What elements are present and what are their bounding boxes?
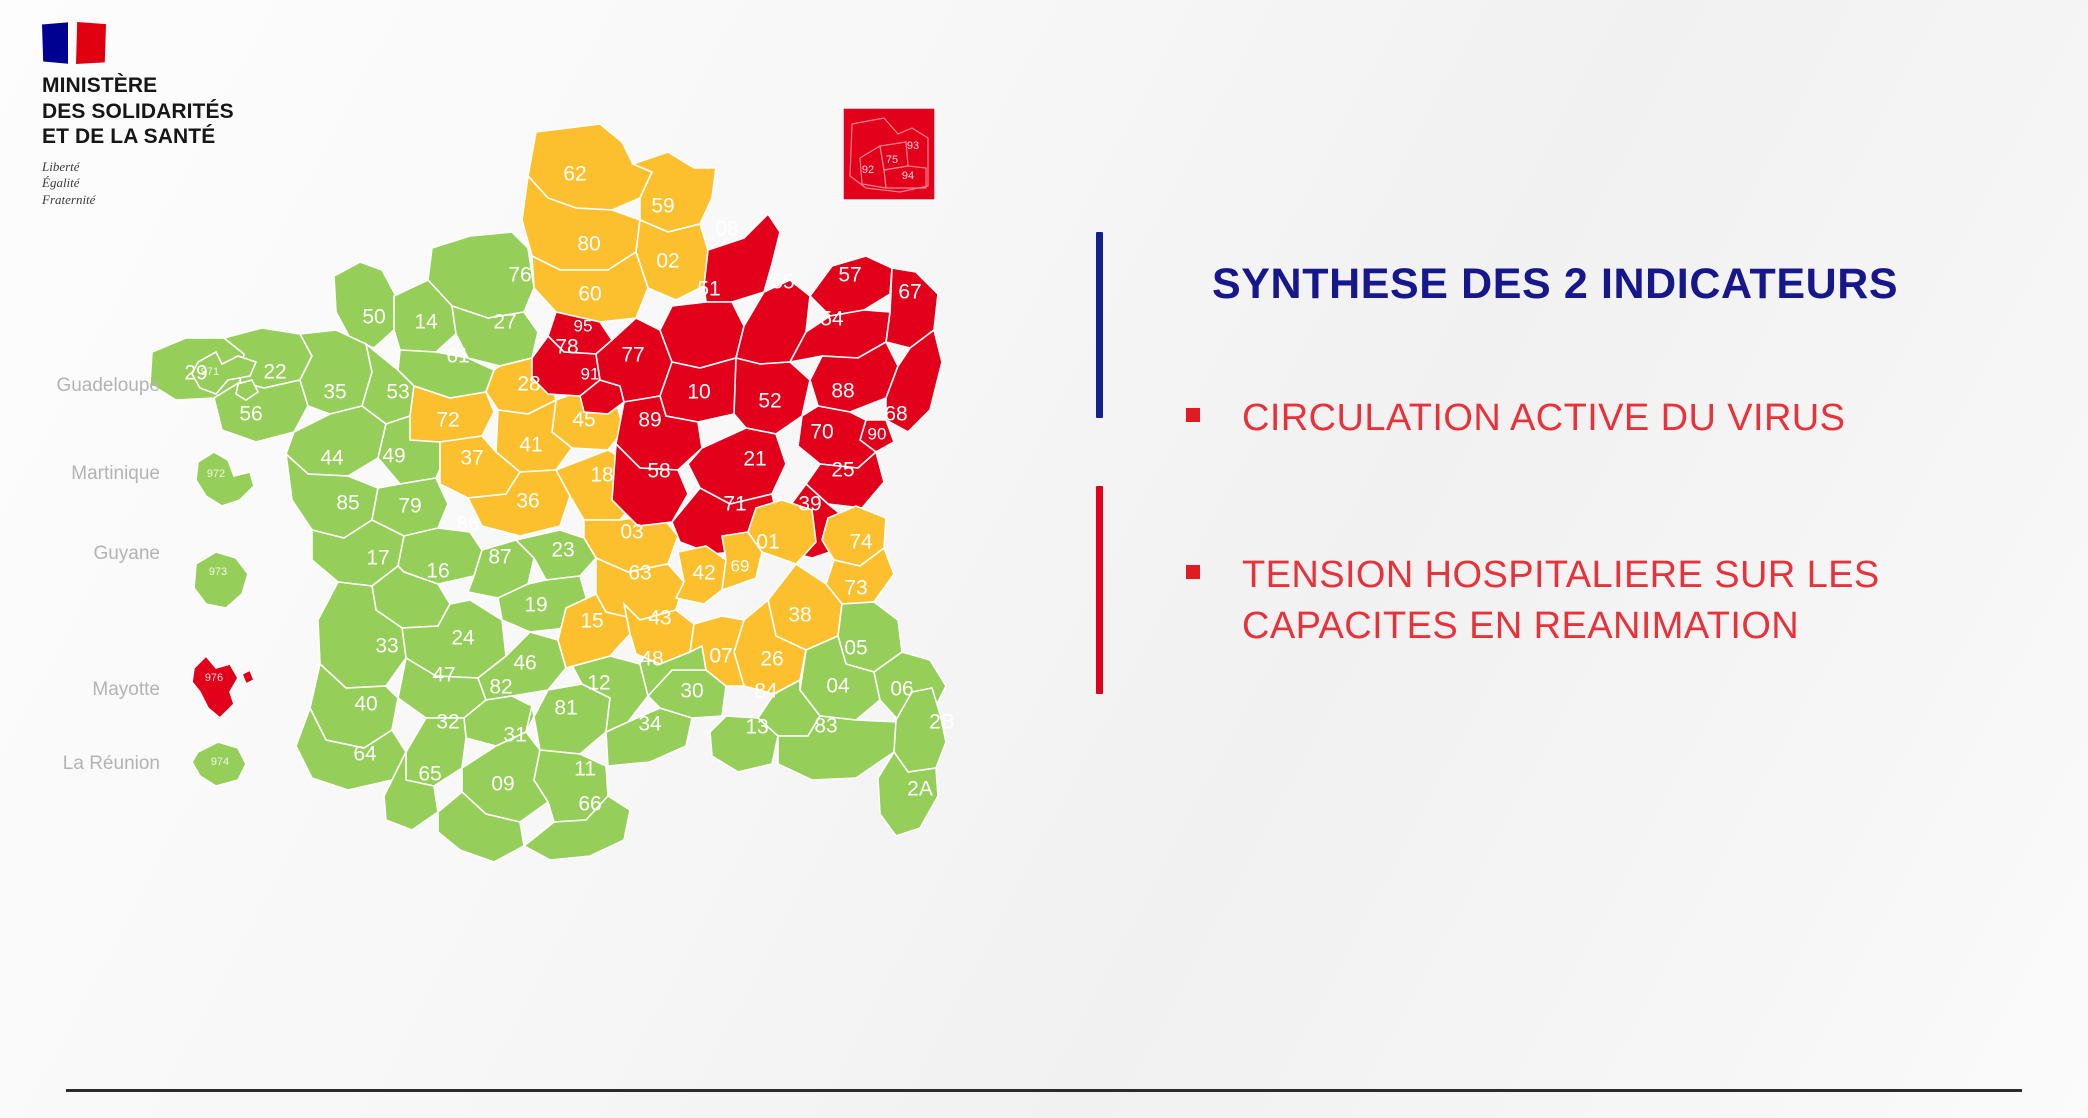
france-covid-map: 93 75 92 94 971 Guadeloupe 972 Martiniqu… (0, 80, 1060, 1020)
indicator-item-1: CIRCULATION ACTIVE DU VIRUS (1186, 393, 1845, 444)
dom-name-guyane: Guyane (93, 543, 160, 564)
dept-52[interactable] (734, 358, 810, 434)
dept-59[interactable] (633, 152, 716, 232)
idf-inset[interactable]: 93 75 92 94 (843, 108, 935, 200)
slide-root: MINISTÈRE DES SOLIDARITÉS ET DE LA SANTÉ… (0, 0, 2088, 1118)
map-svg: 93 75 92 94 971 Guadeloupe 972 Martiniqu… (0, 80, 1060, 1020)
dom-code-974: 974 (211, 756, 229, 768)
dept-35[interactable] (300, 330, 372, 414)
label-08: 08 (715, 218, 738, 241)
dept-51[interactable] (660, 302, 744, 368)
bullet-square-icon (1186, 408, 1200, 422)
dom-code-972: 972 (207, 468, 225, 480)
dept-68[interactable] (886, 330, 942, 432)
dom-name-la-reunion: La Réunion (63, 753, 160, 774)
idf-label-75: 75 (886, 154, 898, 166)
accent-bar-red (1096, 486, 1103, 694)
dom-976-b[interactable] (242, 670, 254, 684)
dom-name-guadeloupe: Guadeloupe (56, 375, 160, 396)
accent-bar-blue (1096, 232, 1103, 418)
dom-name-martinique: Martinique (71, 463, 160, 484)
idf-label-93: 93 (907, 140, 919, 152)
french-flag-icon (42, 22, 106, 64)
indicator-label-2: TENSION HOSPITALIERE SUR LES CAPACITES E… (1242, 550, 2042, 653)
bullet-square-icon (1186, 565, 1200, 579)
indicator-item-2: TENSION HOSPITALIERE SUR LES CAPACITES E… (1186, 550, 2042, 653)
dept-57[interactable] (810, 256, 892, 316)
dom-code-973: 973 (209, 566, 227, 578)
dept-10[interactable] (660, 358, 746, 422)
footer-divider (66, 1089, 2022, 1092)
dom-name-mayotte: Mayotte (92, 679, 160, 700)
dept-08[interactable] (704, 214, 780, 302)
dept-42[interactable] (676, 546, 726, 604)
dept-81[interactable] (526, 684, 610, 754)
dom-code-971: 971 (201, 366, 219, 378)
dom-code-976: 976 (205, 672, 223, 684)
page-title: SYNTHESE DES 2 INDICATEURS (1212, 260, 1898, 309)
dom-976[interactable] (192, 656, 238, 718)
idf-label-92: 92 (862, 164, 874, 176)
dom-973[interactable] (194, 552, 248, 608)
dept-32[interactable] (406, 718, 466, 786)
indicator-label-1: CIRCULATION ACTIVE DU VIRUS (1242, 393, 1845, 444)
map-regions: 93 75 92 94 971 Guadeloupe 972 Martiniqu… (56, 108, 946, 862)
idf-label-94: 94 (902, 170, 914, 182)
